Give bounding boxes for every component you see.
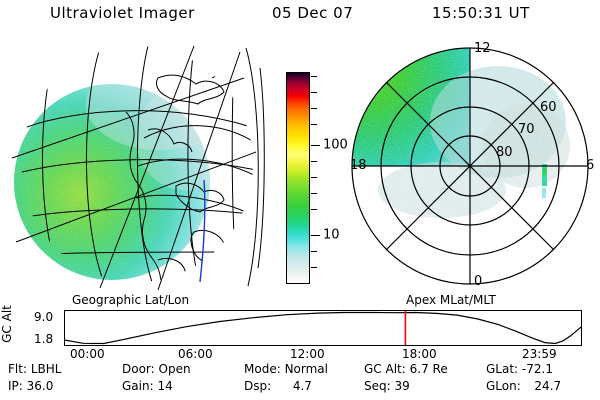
colorbar-tick	[311, 161, 317, 162]
orbit-xtick-4: 23:59	[522, 348, 557, 360]
globe-limb	[246, 48, 264, 286]
status-mode-label: Mode:	[244, 362, 281, 376]
status-glon-label: GLon:	[486, 379, 521, 393]
status-glat-value: -72.1	[522, 362, 553, 376]
status-seq: Seq: 39	[364, 379, 410, 393]
status-gain-label: Gain:	[122, 379, 154, 393]
geographic-globe-panel	[8, 42, 266, 292]
status-glon: GLon: 24.7	[486, 379, 561, 393]
orbit-plot-box	[64, 310, 582, 346]
latitude-label-70: 70	[518, 123, 535, 136]
status-glat: GLat: -72.1	[486, 362, 553, 376]
status-door: Door: Open	[122, 362, 191, 376]
colorbar-tick	[311, 76, 317, 77]
mlt-label-18: 18	[350, 159, 367, 172]
colorbar-tick	[311, 193, 317, 194]
status-glat-label: GLat:	[486, 362, 518, 376]
mlt-label-0: 0	[474, 275, 482, 288]
orbit-xtick-2: 12:00	[290, 348, 325, 360]
colorbar-tick	[311, 209, 317, 210]
colorbar-tick	[311, 92, 317, 93]
colorbar-tick	[311, 267, 317, 268]
status-ip-label: IP:	[8, 379, 23, 393]
status-gcalt-label: GC Alt:	[364, 362, 406, 376]
status-dsp: Dsp: 4.7	[244, 379, 312, 393]
status-door-value: Open	[159, 362, 191, 376]
instrument-title: Ultraviolet Imager	[50, 4, 195, 22]
mlt-label-12: 12	[474, 42, 491, 55]
status-gcalt: GC Alt: 6.7 Re	[364, 362, 448, 376]
polar-plot-image	[348, 42, 598, 294]
apex-polar-panel: 12 18 6 0 60 70 80	[348, 42, 598, 294]
status-ip-value: 36.0	[27, 379, 54, 393]
colorbar-gradient	[286, 72, 310, 284]
status-flight-value: LBHL	[31, 362, 62, 376]
orbit-ytick-min: 1.8	[34, 333, 53, 345]
observation-time: 15:50:31 UT	[432, 4, 530, 22]
orbit-xtick-0: 00:00	[70, 348, 105, 360]
status-gcalt-value: 6.7 Re	[410, 362, 448, 376]
orbit-altitude-curve	[65, 311, 581, 345]
header-bar: Ultraviolet Imager 05 Dec 07 15:50:31 UT	[0, 4, 600, 30]
status-glon-value: 24.7	[534, 379, 561, 393]
status-seq-value: 39	[395, 379, 410, 393]
latitude-label-80: 80	[496, 146, 513, 159]
colorbar-tick-major-10	[311, 235, 320, 236]
status-mode: Mode: Normal	[244, 362, 328, 376]
latitude-label-60: 60	[540, 101, 557, 114]
status-dsp-value: 4.7	[293, 379, 312, 393]
orbit-altitude-panel: Geographic Lat/Lon Apex MLat/MLT GC Alt …	[0, 293, 600, 359]
colorbar-tick	[311, 251, 317, 252]
uv-imager-display: Ultraviolet Imager 05 Dec 07 15:50:31 UT	[0, 0, 600, 400]
status-gain-value: 14	[157, 379, 172, 393]
orbit-ytick-max: 9.0	[34, 311, 53, 323]
observation-date: 05 Dec 07	[272, 4, 353, 22]
orbit-xtick-3: 18:00	[402, 348, 437, 360]
status-ip: IP: 36.0	[8, 379, 53, 393]
colorbar-tick	[311, 177, 317, 178]
status-gain: Gain: 14	[122, 379, 173, 393]
globe-image	[8, 42, 266, 292]
status-dsp-label: Dsp:	[244, 379, 271, 393]
orbit-caption-geographic: Geographic Lat/Lon	[72, 293, 189, 307]
status-door-label: Door:	[122, 362, 155, 376]
orbit-y-axis-label: GC Alt	[0, 297, 34, 351]
status-mode-value: Normal	[285, 362, 328, 376]
colorbar-panel: photon cm-2s-1 100 10	[270, 60, 350, 295]
colorbar-tick-major-100	[311, 145, 320, 146]
status-flight: Flt: LBHL	[8, 362, 61, 376]
mlt-spokes	[352, 48, 588, 284]
orbit-xtick-1: 06:00	[178, 348, 213, 360]
status-seq-label: Seq:	[364, 379, 391, 393]
status-footer: Flt: LBHL Door: Open Mode: Normal GC Alt…	[0, 362, 600, 398]
orbit-caption-apex: Apex MLat/MLT	[406, 293, 496, 307]
mlt-label-6: 6	[586, 159, 594, 172]
colorbar-tick	[311, 124, 317, 125]
colorbar-label-10: 10	[323, 229, 340, 242]
colorbar-tick	[311, 108, 317, 109]
status-flight-label: Flt:	[8, 362, 27, 376]
colorbar-label-100: 100	[323, 139, 348, 152]
